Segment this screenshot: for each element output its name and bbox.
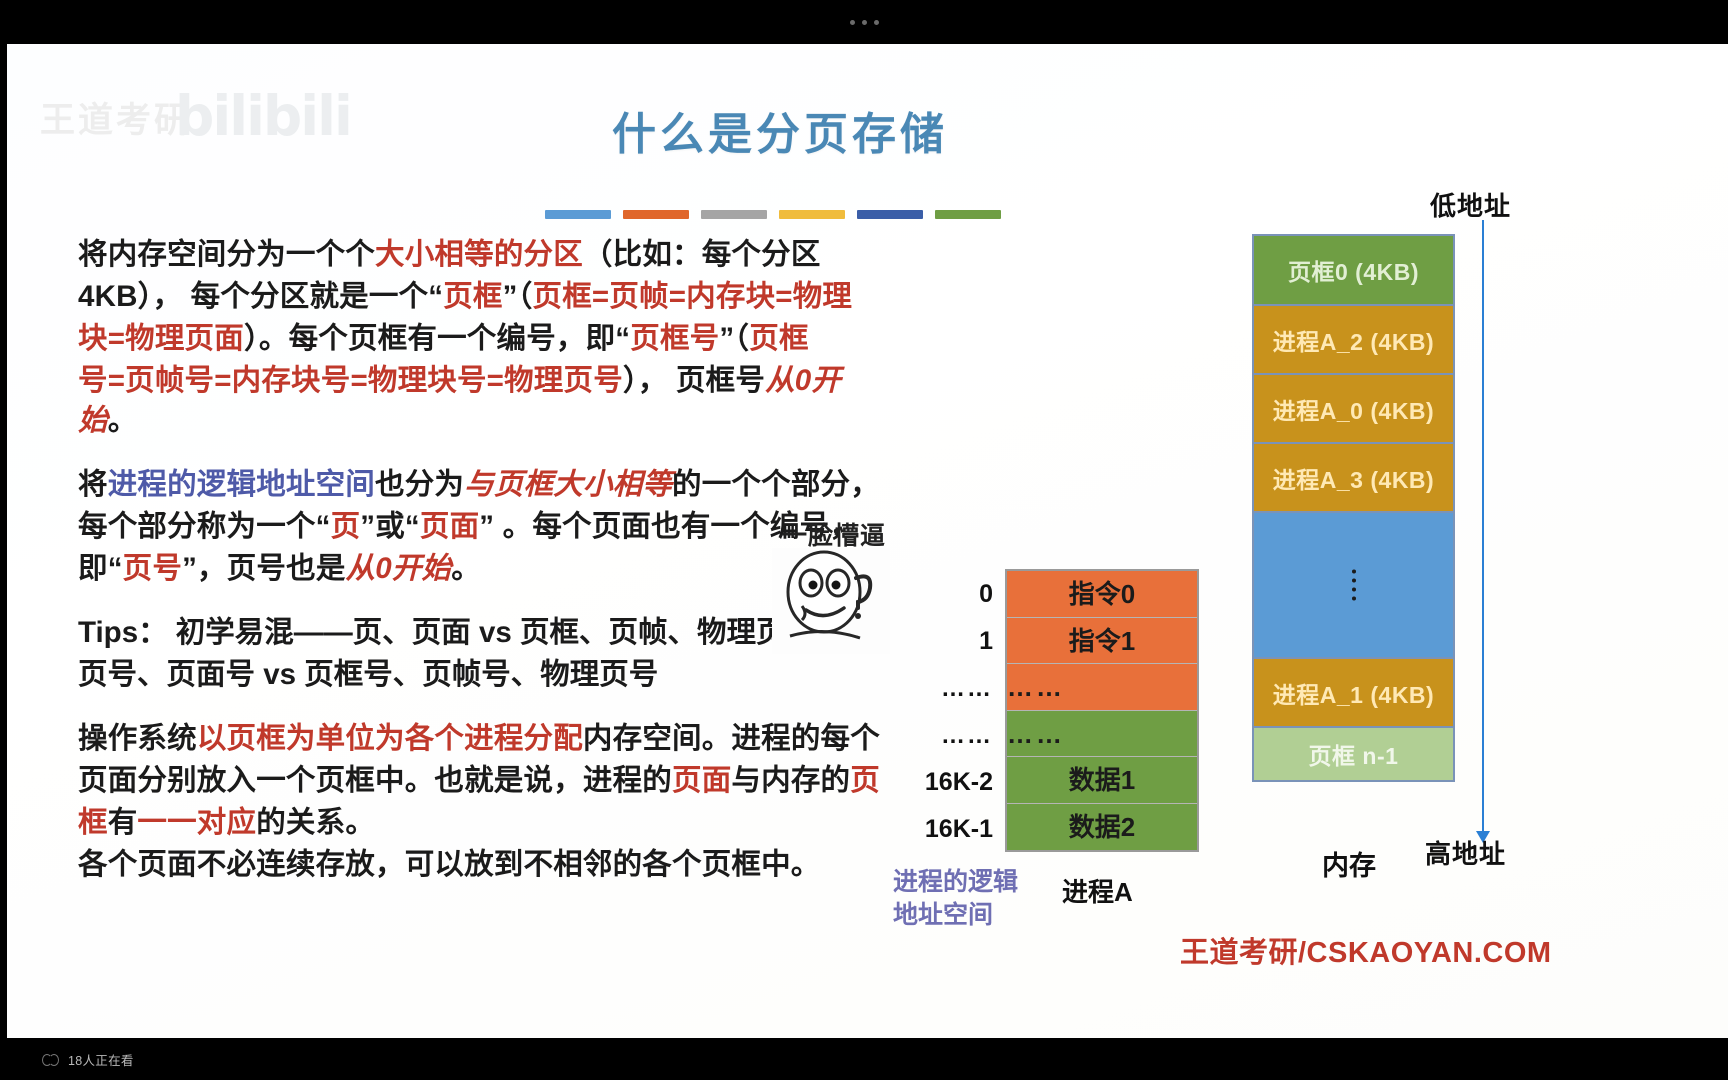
logical-address-space-caption: 进程的逻辑 地址空间 xyxy=(893,866,1053,932)
process-row-5: 数据2 xyxy=(1007,804,1197,851)
tips-line-1: Tips： 初学易混——页、页面 vs 页框、页帧、物理页 xyxy=(78,613,893,653)
address-direction-arrow xyxy=(1482,220,1484,832)
low-address-label: 低地址 xyxy=(1430,186,1511,223)
p2-l3-red: 页号 xyxy=(123,552,182,585)
more-dots-icon[interactable] xyxy=(850,20,879,25)
process-index-3: …… xyxy=(905,712,993,759)
spacer-3 xyxy=(78,697,893,719)
p2-l2-red1: 页 xyxy=(331,510,361,543)
p2-l3-a: 即“ xyxy=(78,552,123,585)
process-row-1: 指令1 xyxy=(1007,618,1197,665)
p4-l3-red: 框 xyxy=(78,806,108,839)
p1-l4-a: ）， 页框号 xyxy=(623,364,765,397)
p2-l2-b: ”或“ xyxy=(360,510,420,543)
high-address-label: 高地址 xyxy=(1425,834,1506,871)
p2-l1-b: 也分为 xyxy=(375,468,464,501)
memory-block-3: 进程A_3 (4KB) xyxy=(1254,444,1453,513)
p4-l2-b: 与内存的 xyxy=(731,764,850,797)
p1-l2-red1: 页框 xyxy=(443,280,502,313)
paragraph-4: 操作系统以页框为单位为各个进程分配内存空间。进程的每个 页面分别放入一个页框中。… xyxy=(78,719,893,885)
p1-l2-a: 4KB）， 每个分区就是一个“ xyxy=(78,280,443,313)
process-row-0: 指令0 xyxy=(1007,571,1197,618)
p2-l1-c: 的一个个部分， xyxy=(672,468,880,501)
process-index-2: …… xyxy=(905,665,993,712)
p2-l3-b: ”，页号也是 xyxy=(182,552,345,585)
process-row-3: …… xyxy=(1007,711,1197,758)
memory-block-0: 页框0 (4KB) xyxy=(1254,236,1453,306)
paragraph-1: 将内存空间分为一个个大小相等的分区（比如：每个分区 4KB）， 每个分区就是一个… xyxy=(78,235,893,441)
left-black-edge xyxy=(0,44,7,1038)
spacer-2 xyxy=(78,591,893,613)
process-index-4: 16K-2 xyxy=(905,759,993,806)
p1-l3-red2: 页框号 xyxy=(630,322,719,355)
screen: 王道考研 bilibili 什么是分页存储 将内存空间分为一个个大小相等的分区（… xyxy=(0,0,1728,1080)
p2-l2-a: 每个部分称为一个“ xyxy=(78,510,331,543)
p4-l3-a: 有 xyxy=(108,806,138,839)
memory-column: 页框0 (4KB) 进程A_2 (4KB) 进程A_0 (4KB) 进程A_3 … xyxy=(1252,234,1455,782)
p1-l2-red2: 页框=页帧=内存块=物理 xyxy=(533,280,853,313)
title-bar-2 xyxy=(623,210,689,219)
brand-footer: 王道考研/CSKAOYAN.COM xyxy=(1180,929,1552,971)
p4-l4: 各个页面不必连续存放，可以放到不相邻的各个页框中。 xyxy=(78,848,821,881)
title-bar-4 xyxy=(779,210,845,219)
title-bar-6 xyxy=(935,210,1001,219)
watching-count-label: 18人正在看 xyxy=(68,1050,134,1069)
p4-l2-a: 页面分别放入一个页框中。也就是说，进程的 xyxy=(78,764,672,797)
memory-block-2: 进程A_0 (4KB) xyxy=(1254,375,1453,444)
p4-l1-red: 以页框为单位为各个进程分配 xyxy=(197,722,583,755)
p1-l4-b: 。 xyxy=(108,404,138,437)
player-bottom-bar: 18人正在看 xyxy=(0,1038,1728,1080)
title-bar-1 xyxy=(545,210,611,219)
p4-l2-red2: 页 xyxy=(850,764,880,797)
process-index-column: 0 1 …… …… 16K-2 16K-1 xyxy=(905,571,993,853)
memory-caption: 内存 xyxy=(1322,844,1376,883)
p2-l3-c: 。 xyxy=(451,552,481,585)
logical-caption-line1: 进程的逻辑 xyxy=(893,866,1053,899)
p4-l3-red2: 一一对应 xyxy=(137,806,256,839)
paragraph-tips: Tips： 初学易混——页、页面 vs 页框、页帧、物理页 页号、页面号 vs … xyxy=(78,613,893,695)
p2-l1-red: 与页框大小相等 xyxy=(464,468,672,501)
memory-block-6: 页框 n-1 xyxy=(1254,728,1453,780)
p2-l1-a: 将 xyxy=(78,468,108,501)
title-bar-5 xyxy=(857,210,923,219)
p1-l3-b: ”（ xyxy=(719,322,749,355)
spacer-1 xyxy=(78,443,893,465)
headphones-icon xyxy=(42,1052,59,1066)
process-index-5: 16K-1 xyxy=(905,806,993,853)
process-row-2: …… xyxy=(1007,664,1197,711)
tips-line-2: 页号、页面号 vs 页框号、页帧号、物理页号 xyxy=(78,655,893,695)
process-row-4: 数据1 xyxy=(1007,757,1197,804)
process-index-1: 1 xyxy=(905,618,993,665)
slide-canvas: 王道考研 bilibili 什么是分页存储 将内存空间分为一个个大小相等的分区（… xyxy=(0,44,1728,1038)
p2-l1-blue: 进程的逻辑地址空间 xyxy=(108,468,375,501)
logical-caption-line2: 地址空间 xyxy=(893,899,1053,932)
p1-l2-b: ”（ xyxy=(503,280,533,313)
page-title: 什么是分页存储 xyxy=(0,98,1560,162)
memory-block-5: 进程A_1 (4KB) xyxy=(1254,659,1453,728)
p1-l4-red: 号=页帧号=内存块号=物理块号=物理页号 xyxy=(78,364,623,397)
meme-caption: 一脸懵逼 xyxy=(782,516,886,552)
p4-l1-a: 操作系统 xyxy=(78,722,197,755)
p1-l3-red3: 页框 xyxy=(749,322,808,355)
p1-l3-a: ）。每个页框有一个编号，即“ xyxy=(244,322,630,355)
paragraph-2: 将进程的逻辑地址空间也分为与页框大小相等的一个个部分， 每个部分称为一个“页”或… xyxy=(78,465,893,589)
slide-body: 将内存空间分为一个个大小相等的分区（比如：每个分区 4KB）， 每个分区就是一个… xyxy=(78,235,893,887)
p4-l3-b: 的关系。 xyxy=(256,806,375,839)
p1-l1-b: （比如：每个分区 xyxy=(583,238,821,271)
title-bar-3 xyxy=(701,210,767,219)
process-a-table: 指令0 指令1 …… …… 数据1 数据2 xyxy=(1005,569,1199,852)
p2-l2-red2: 页面 xyxy=(420,510,479,543)
p4-l1-b: 内存空间。进程的每个 xyxy=(583,722,880,755)
process-index-0: 0 xyxy=(905,571,993,618)
player-top-bar xyxy=(0,0,1728,44)
p1-l1-red: 大小相等的分区 xyxy=(375,238,583,271)
vertical-ellipsis-icon xyxy=(1352,570,1356,601)
memory-block-ellipsis xyxy=(1254,513,1453,659)
title-color-bars xyxy=(545,210,1001,219)
p4-l2-red: 页面 xyxy=(672,764,731,797)
p1-l1-a: 将内存空间分为一个个 xyxy=(78,238,375,271)
p1-l3-red: 块=物理页面 xyxy=(78,322,244,355)
confused-face-meme-icon xyxy=(772,548,890,654)
p2-l3-italic: 从0开始 xyxy=(346,552,452,585)
process-a-caption: 进程A xyxy=(1062,872,1133,909)
memory-block-1: 进程A_2 (4KB) xyxy=(1254,306,1453,375)
